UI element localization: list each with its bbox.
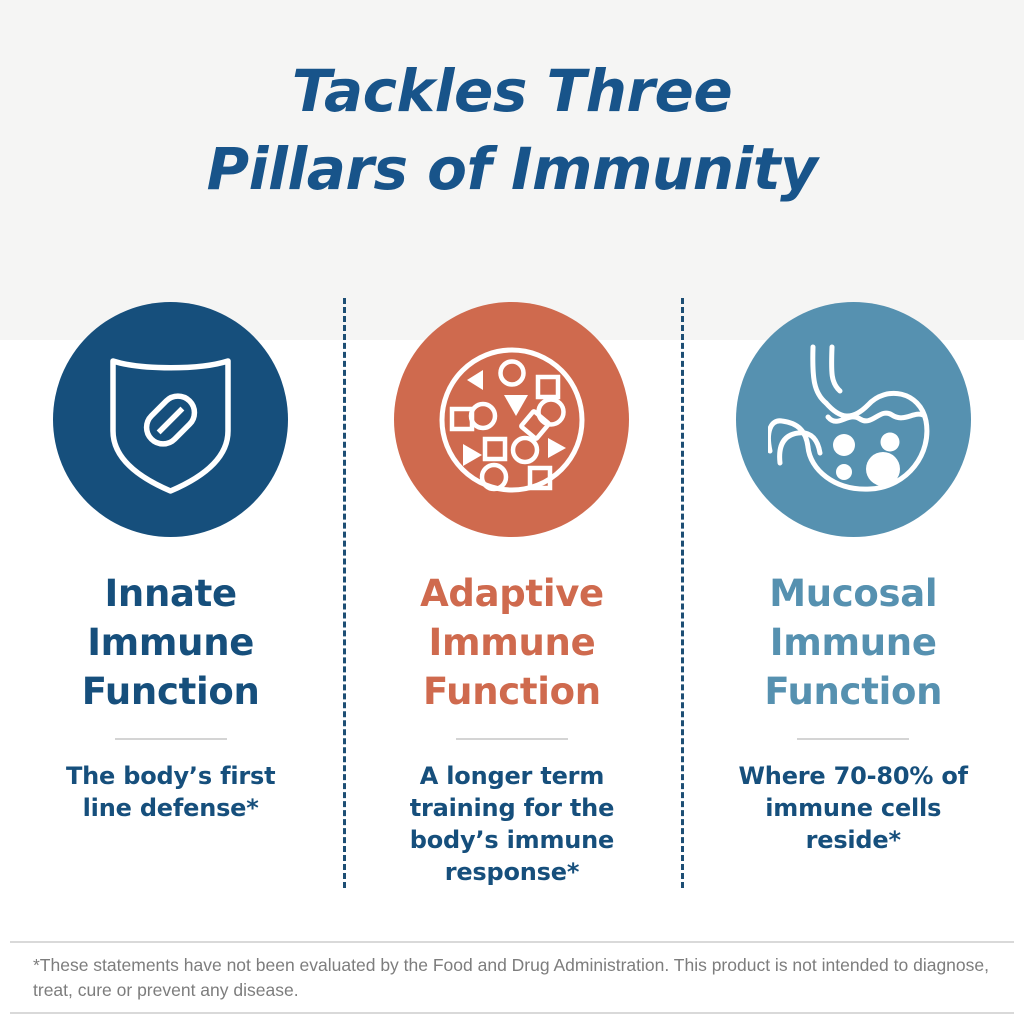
heading-line-2: Immune [87, 621, 254, 664]
heading-line-1: Mucosal [769, 572, 937, 615]
page-title-line-1: Tackles Three [0, 52, 1024, 130]
heading-line-3: Function [82, 670, 260, 713]
pillar-columns: Innate Immune Function The body’s first … [0, 302, 1024, 902]
column-divider-2 [681, 298, 684, 888]
stomach-icon [768, 341, 938, 499]
column-divider-1 [343, 298, 346, 888]
icon-circle-adaptive [394, 302, 629, 537]
heading-line-2: Immune [429, 621, 596, 664]
pillar-column-mucosal: Mucosal Immune Function Where 70-80% of … [683, 302, 1024, 902]
heading-line-1: Innate [104, 572, 236, 615]
heading-divider-innate [115, 738, 227, 740]
page-title-line-2: Pillars of Immunity [0, 130, 1024, 208]
heading-line-3: Function [764, 670, 942, 713]
pillar-description-mucosal: Where 70-80% of immune cells reside* [728, 760, 978, 856]
immunity-infographic: Tackles Three Pillars of Immunity Innate… [0, 0, 1024, 1024]
pillar-heading-innate: Innate Immune Function [82, 569, 260, 716]
icon-circle-innate [53, 302, 288, 537]
cell-shapes-icon [436, 344, 588, 496]
footer-disclaimer: *These statements have not been evaluate… [10, 941, 1014, 1014]
pillar-column-innate: Innate Immune Function The body’s first … [0, 302, 341, 902]
heading-divider-mucosal [797, 738, 909, 740]
pillar-heading-adaptive: Adaptive Immune Function [420, 569, 604, 716]
shield-pill-icon [103, 345, 238, 495]
heading-divider-adaptive [456, 738, 568, 740]
pillar-column-adaptive: Adaptive Immune Function A longer term t… [341, 302, 682, 902]
heading-line-3: Function [423, 670, 601, 713]
heading-line-2: Immune [770, 621, 937, 664]
pillar-description-innate: The body’s first line defense* [46, 760, 296, 824]
footer-disclaimer-text: *These statements have not been evaluate… [10, 953, 1014, 1003]
pillar-description-adaptive: A longer term training for the body’s im… [387, 760, 637, 888]
icon-circle-mucosal [736, 302, 971, 537]
pillar-heading-mucosal: Mucosal Immune Function [764, 569, 942, 716]
page-title: Tackles Three Pillars of Immunity [0, 52, 1024, 208]
heading-line-1: Adaptive [420, 572, 604, 615]
